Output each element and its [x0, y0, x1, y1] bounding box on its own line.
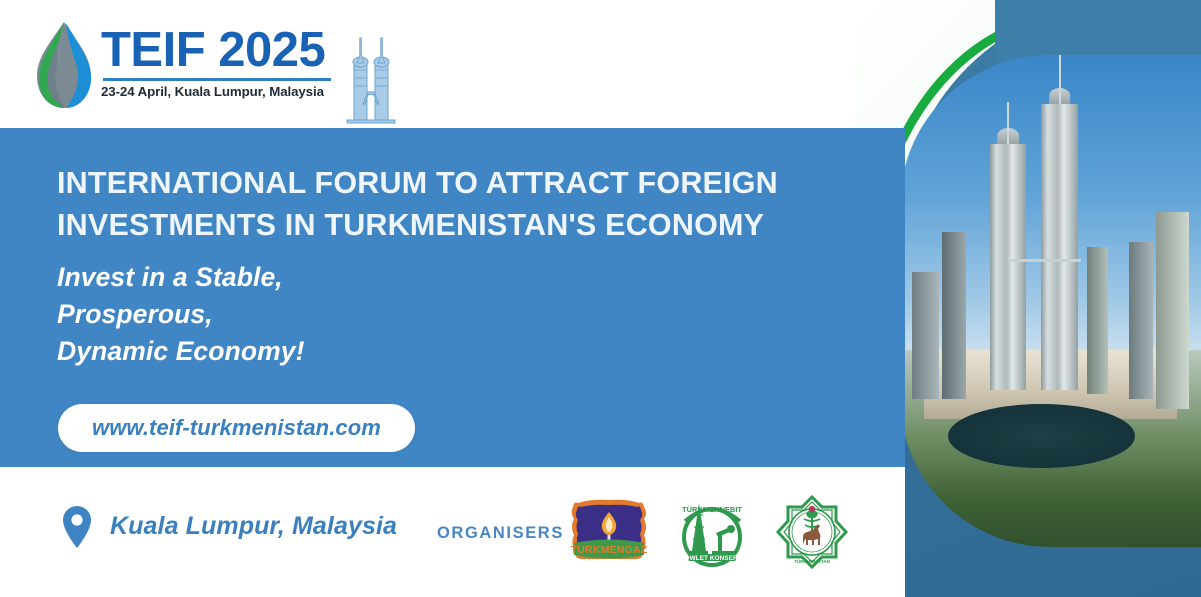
photo-building — [1087, 247, 1108, 395]
photo-tower-left — [990, 144, 1026, 390]
svg-text:TÜRKMENNEBIT: TÜRKMENNEBIT — [682, 505, 742, 514]
photo-building — [912, 272, 939, 400]
photo-building — [1129, 242, 1153, 399]
hero-headline: INTERNATIONAL FORUM TO ATTRACT FOREIGN I… — [57, 162, 817, 246]
petronas-towers-photo — [900, 55, 1201, 547]
photo-lake — [948, 404, 1135, 468]
event-banner: TEIF 2025 23-24 April, Kuala Lumpur, Mal… — [0, 0, 1201, 597]
headline-line-2: INVESTMENTS IN TURKMENISTAN'S ECONOMY — [57, 204, 817, 246]
headline-line-1: INTERNATIONAL FORUM TO ATTRACT FOREIGN — [57, 162, 817, 204]
teif-logo: TEIF 2025 23-24 April, Kuala Lumpur, Mal… — [33, 18, 373, 114]
photo-building — [942, 232, 966, 399]
hero-tagline: Invest in a Stable, Prosperous, Dynamic … — [57, 259, 577, 370]
svg-text:TURKMENGAZ: TURKMENGAZ — [571, 544, 648, 556]
tagline-line-2: Prosperous, — [57, 296, 577, 333]
droplet-flame-icon — [33, 20, 95, 110]
photo-building — [1156, 212, 1189, 409]
turkmennebit-logo[interactable]: TÜRKMENNEBIT DOWLET KONSERNI — [672, 495, 752, 571]
website-link[interactable]: www.teif-turkmenistan.com — [58, 404, 415, 452]
turkmengaz-logo[interactable]: TURKMENGAZ — [568, 495, 650, 567]
map-pin-icon — [62, 505, 92, 549]
tagline-line-1: Invest in a Stable, — [57, 259, 577, 296]
logo-title: TEIF 2025 — [101, 24, 336, 76]
tagline-line-3: Dynamic Economy! — [57, 333, 577, 370]
logo-divider — [103, 78, 331, 81]
organiser-logos: TURKMENGAZ TÜRKMENNEBIT DOWLET KONSERNI — [568, 495, 858, 575]
svg-text:DOWLET KONSERNI: DOWLET KONSERNI — [680, 555, 744, 562]
petronas-towers-icon — [341, 32, 401, 130]
logo-subtitle: 23-24 April, Kuala Lumpur, Malaysia — [101, 84, 336, 99]
svg-text:TÜRKMENISTAN: TÜRKMENISTAN — [794, 558, 830, 564]
organisers-label: ORGANISERS — [437, 524, 564, 543]
event-location: Kuala Lumpur, Malaysia — [110, 512, 397, 541]
photo-skybridge — [1008, 259, 1080, 262]
turkmenistan-state-emblem-logo[interactable]: TÜRKMENISTAN — [774, 495, 850, 569]
photo-tower-right — [1041, 104, 1077, 389]
